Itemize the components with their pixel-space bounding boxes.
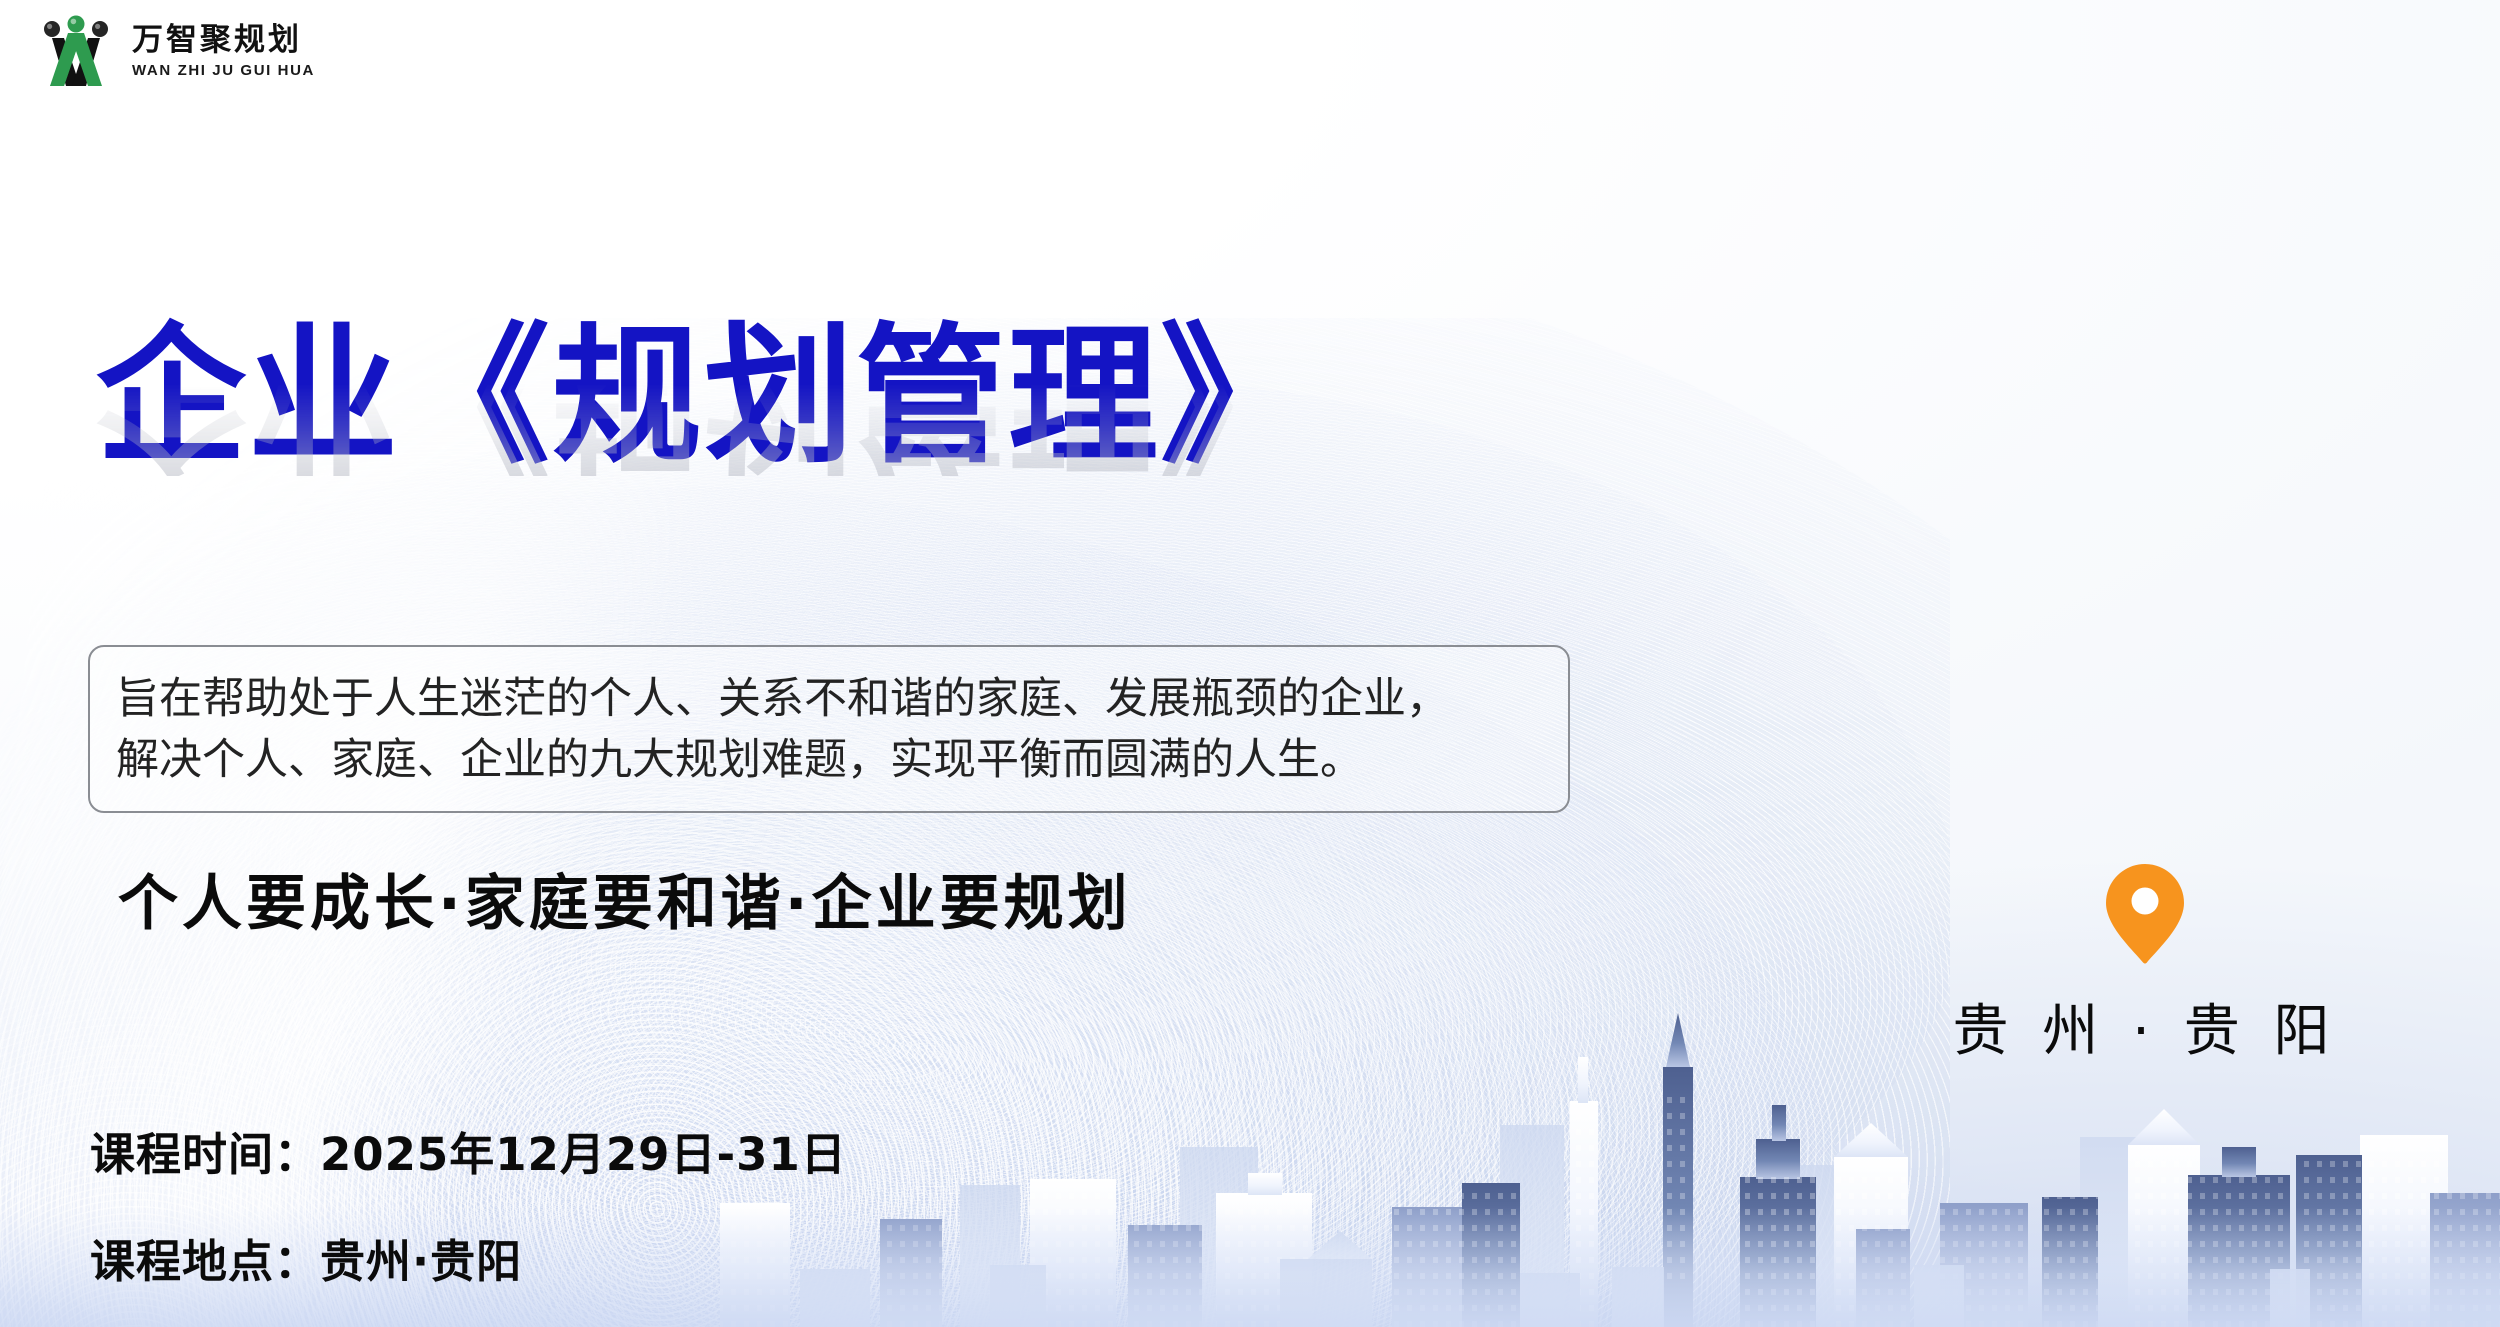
brand-logo[interactable]: 万智聚规划 WAN ZHI JU GUI HUA	[34, 14, 315, 88]
hero-title-block: 企业《规划管理》 企业《规划管理》	[96, 322, 1616, 626]
three-people-logo-icon	[34, 14, 118, 88]
logo-name-cn: 万智聚规划	[132, 25, 315, 56]
title-reflection: 企业《规划管理》	[96, 326, 1616, 476]
description-box: 旨在帮助处于人生迷茫的个人、关系不和谐的家庭、发展瓶颈的企业， 解决个人、家庭、…	[88, 645, 1570, 813]
location-label: 贵 州 · 贵 阳	[1945, 986, 2345, 1067]
course-time-row: 课程时间：2025年12月29日-31日	[90, 1118, 847, 1183]
slogan-text: 个人要成长·家庭要和谐·企业要规划	[118, 855, 1132, 942]
map-pin-icon	[2103, 862, 2187, 966]
location-block: 贵 州 · 贵 阳	[1945, 862, 2345, 1067]
description-line-1: 旨在帮助处于人生迷茫的个人、关系不和谐的家庭、发展瓶颈的企业，	[116, 669, 1542, 730]
poster-canvas: 万智聚规划 WAN ZHI JU GUI HUA 企业《规划管理》 企业《规划管…	[0, 0, 2500, 1327]
logo-text-block: 万智聚规划 WAN ZHI JU GUI HUA	[132, 25, 315, 78]
description-line-2: 解决个人、家庭、企业的九大规划难题，实现平衡而圆满的人生。	[116, 730, 1542, 791]
course-place-row: 课程地点：贵州·贵阳	[90, 1225, 847, 1290]
poster-content: 企业《规划管理》 企业《规划管理》 旨在帮助处于人生迷茫的个人、关系不和谐的家庭…	[0, 0, 2500, 1327]
schedule-block: 课程时间：2025年12月29日-31日 课程地点：贵州·贵阳	[90, 1118, 847, 1290]
logo-name-en: WAN ZHI JU GUI HUA	[132, 63, 315, 78]
